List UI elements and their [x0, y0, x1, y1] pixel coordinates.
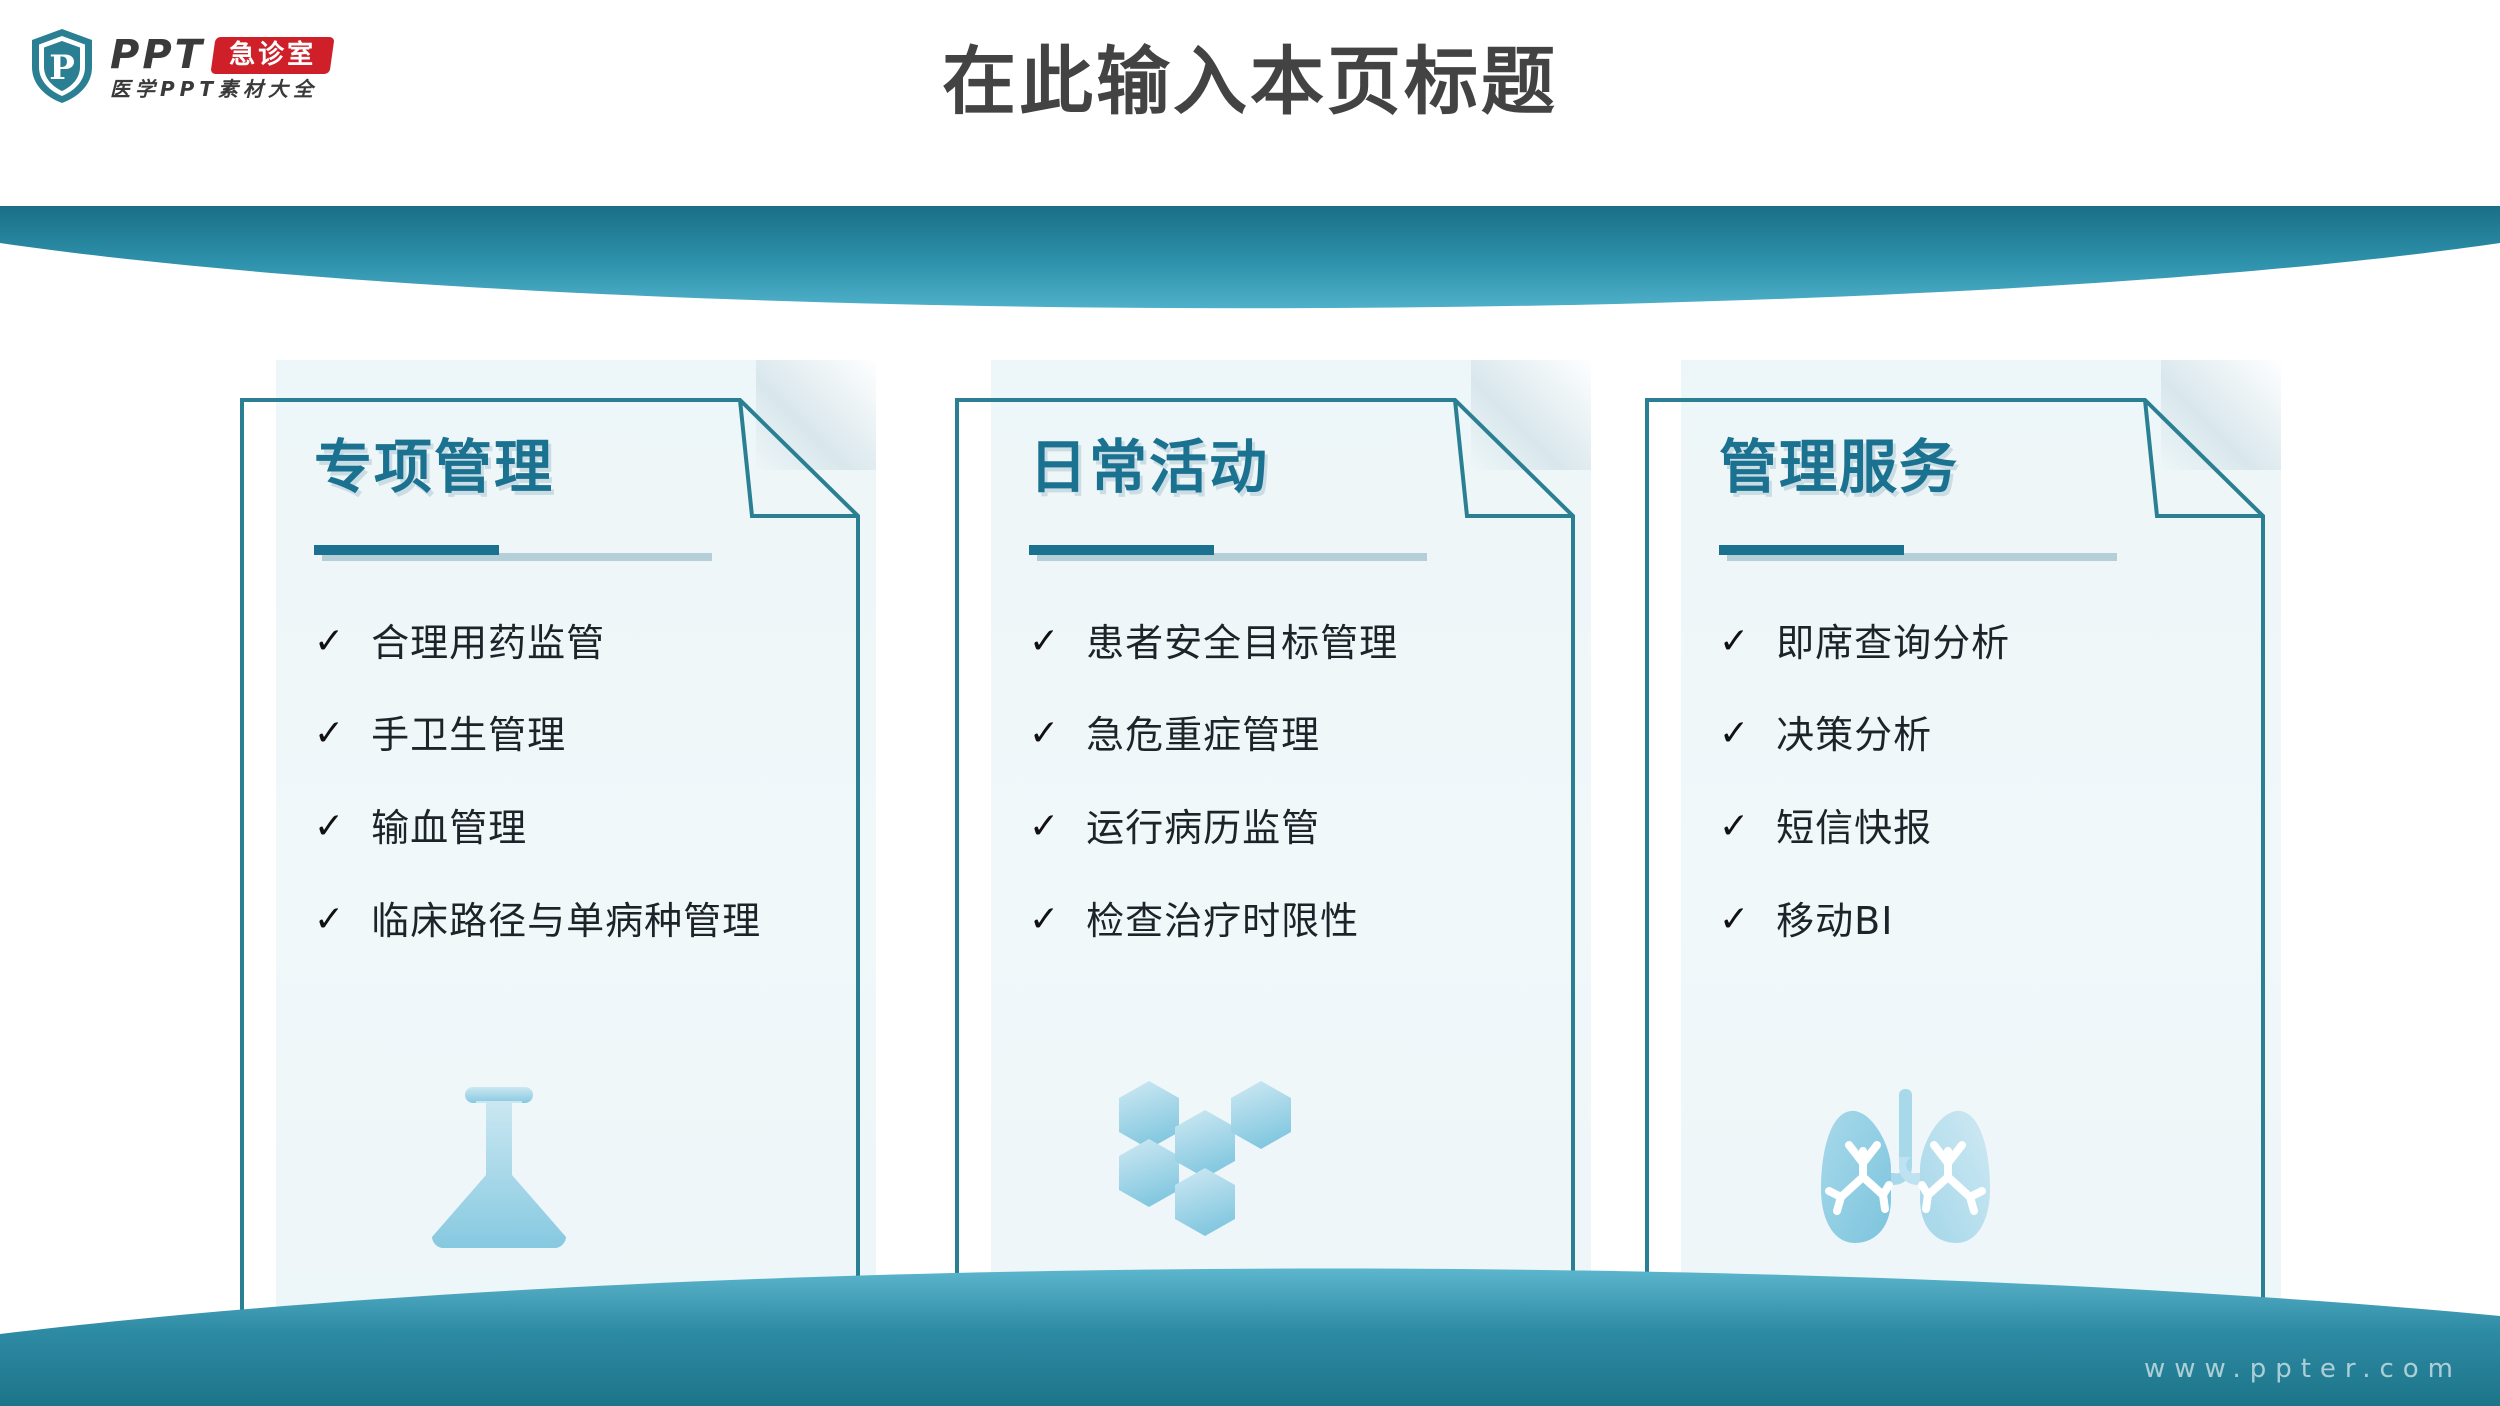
check-icon: ✓ [1719, 711, 1750, 758]
card-item-list: ✓患者安全目标管理 ✓急危重症管理 ✓运行病历监管 ✓检查治疗时限性 [1029, 619, 1575, 946]
card-日常活动[interactable]: 日常活动 ✓患者安全目标管理 ✓急危重症管理 ✓运行病历监管 ✓检查治疗时限性 [955, 378, 1575, 1338]
check-icon: ✓ [1719, 897, 1750, 944]
card-decorative-icon [1645, 1085, 2265, 1250]
check-icon: ✓ [1029, 711, 1060, 758]
flask-icon [424, 1085, 574, 1250]
cards-container: 专项管理 ✓合理用药监管 ✓手卫生管理 ✓输血管理 ✓临床路径与单病种管理 [0, 0, 2500, 1406]
check-icon: ✓ [1719, 804, 1750, 851]
list-item-label: 即席查询分析 [1776, 619, 2010, 668]
list-item-label: 输血管理 [371, 804, 527, 853]
list-item[interactable]: ✓急危重症管理 [1029, 711, 1499, 760]
card-decorative-icon [955, 1080, 1575, 1250]
list-item-label: 运行病历监管 [1086, 804, 1320, 853]
rule-dark-segment [314, 545, 499, 555]
rule-dark-segment [1719, 545, 1904, 555]
card-decorative-icon [240, 1085, 860, 1250]
list-item-label: 患者安全目标管理 [1086, 619, 1398, 668]
check-icon: ✓ [1719, 619, 1750, 666]
hexagon-cluster-icon [1105, 1080, 1305, 1250]
list-item[interactable]: ✓手卫生管理 [314, 711, 784, 760]
watermark: www.ppter.com [2144, 1354, 2462, 1384]
check-icon: ✓ [1029, 619, 1060, 666]
list-item[interactable]: ✓合理用药监管 [314, 619, 784, 668]
card-heading-rule [314, 545, 714, 561]
check-icon: ✓ [314, 897, 345, 944]
list-item[interactable]: ✓即席查询分析 [1719, 619, 2189, 668]
list-item-label: 检查治疗时限性 [1086, 897, 1359, 946]
list-item[interactable]: ✓短信快报 [1719, 804, 2189, 853]
card-item-list: ✓合理用药监管 ✓手卫生管理 ✓输血管理 ✓临床路径与单病种管理 [314, 619, 860, 946]
list-item-label: 合理用药监管 [371, 619, 605, 668]
list-item[interactable]: ✓决策分析 [1719, 711, 2189, 760]
card-heading-rule [1719, 545, 2119, 561]
rule-dark-segment [1029, 545, 1214, 555]
check-icon: ✓ [1029, 897, 1060, 944]
card-item-list: ✓即席查询分析 ✓决策分析 ✓短信快报 ✓移动BI [1719, 619, 2265, 946]
list-item[interactable]: ✓检查治疗时限性 [1029, 897, 1499, 946]
card-heading: 专项管理 [314, 434, 860, 501]
list-item[interactable]: ✓临床路径与单病种管理 [314, 897, 784, 946]
card-heading-rule [1029, 545, 1429, 561]
list-item-label: 手卫生管理 [371, 711, 566, 760]
check-icon: ✓ [1029, 804, 1060, 851]
list-item-label: 决策分析 [1776, 711, 1932, 760]
list-item[interactable]: ✓患者安全目标管理 [1029, 619, 1499, 668]
card-管理服务[interactable]: 管理服务 ✓即席查询分析 ✓决策分析 ✓短信快报 ✓移动BI [1645, 378, 2265, 1338]
card-专项管理[interactable]: 专项管理 ✓合理用药监管 ✓手卫生管理 ✓输血管理 ✓临床路径与单病种管理 [240, 378, 860, 1338]
card-heading: 管理服务 [1719, 434, 2265, 501]
list-item-label: 移动BI [1776, 897, 1893, 946]
lungs-icon [1813, 1085, 1998, 1250]
list-item[interactable]: ✓运行病历监管 [1029, 804, 1499, 853]
list-item-label: 急危重症管理 [1086, 711, 1320, 760]
check-icon: ✓ [314, 619, 345, 666]
list-item-label: 短信快报 [1776, 804, 1932, 853]
list-item[interactable]: ✓移动BI [1719, 897, 2189, 946]
list-item-label: 临床路径与单病种管理 [371, 897, 761, 946]
check-icon: ✓ [314, 711, 345, 758]
check-icon: ✓ [314, 804, 345, 851]
card-heading: 日常活动 [1029, 434, 1575, 501]
list-item[interactable]: ✓输血管理 [314, 804, 784, 853]
